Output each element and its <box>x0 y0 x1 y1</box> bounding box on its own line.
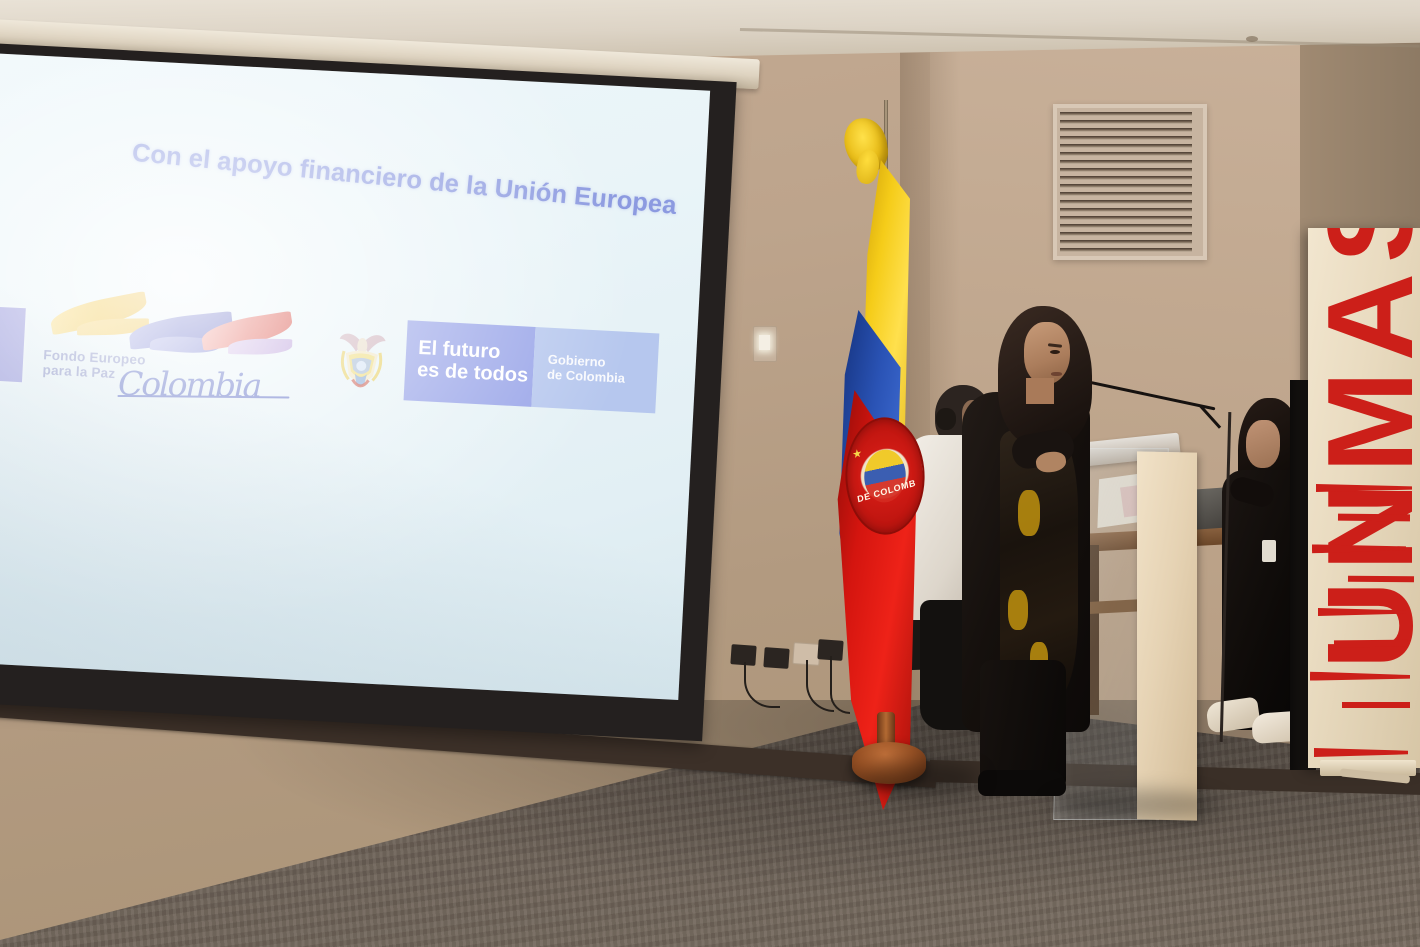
vent-louver <box>1060 192 1192 196</box>
vent-louver <box>1060 128 1192 132</box>
shawl-motif-1 <box>1018 490 1040 536</box>
banner-accent-stripe <box>1348 576 1414 583</box>
vent-louver <box>1060 184 1192 188</box>
podium-shadow <box>1050 790 1220 820</box>
vent-louver <box>1060 160 1192 164</box>
light-switch[interactable] <box>753 326 777 362</box>
flag-base-shadow <box>860 762 980 796</box>
fondo-europeo-logo: Fondo Europeo para la Paz Colombia <box>39 295 294 413</box>
bird-icon-violet <box>228 338 292 355</box>
eu-flag-icon <box>0 303 26 383</box>
vent-louver <box>1060 168 1192 172</box>
gobierno-name-text: Gobierno de Colombia <box>547 352 626 386</box>
speaker-face <box>1024 322 1070 384</box>
headphones-icon <box>936 408 956 430</box>
vent-louver <box>1060 120 1192 124</box>
vent-louver <box>1060 144 1192 148</box>
slide-logo-row: UROPEA Fondo Europeo para la Paz <box>0 277 698 456</box>
vent-louver <box>1060 240 1192 244</box>
vent-louver <box>1060 216 1192 220</box>
vent-louver <box>1060 224 1192 228</box>
vent-louver <box>1060 232 1192 236</box>
unmas-wordmark: UNMAS <box>1309 228 1420 669</box>
slide-title: Con el apoyo financiero de la Unión Euro… <box>131 139 651 219</box>
shawl-motif-2 <box>1008 590 1028 630</box>
flag-seal-star-icon <box>852 448 862 459</box>
speaker-shoes <box>978 770 1066 796</box>
banner-accent-stripe <box>1334 640 1408 648</box>
air-vent-icon <box>1053 104 1207 260</box>
vent-louver <box>1060 200 1192 204</box>
banner-accent-stripe <box>1314 748 1408 757</box>
lectern-front-panel <box>1137 451 1197 820</box>
speaker-eye <box>1050 350 1060 354</box>
gobierno-slogan-text: El futuro es de todos <box>417 337 530 387</box>
vent-louver <box>1060 176 1192 180</box>
colombia-script-wordmark: Colombia <box>118 364 261 405</box>
vent-louver <box>1060 152 1192 156</box>
colombia-coat-of-arms-icon <box>334 327 389 396</box>
unmas-rollup-banner: UNMAS www.unmas.o <box>1308 228 1420 768</box>
banner-accent-stripe <box>1342 702 1410 708</box>
screen-border: Con el apoyo financiero de la Unión Euro… <box>0 42 737 741</box>
gobierno-logo: El futuro es de todos Gobierno de Colomb… <box>333 315 658 428</box>
banner-accent-stripe <box>1338 514 1410 522</box>
projection-screen: Con el apoyo financiero de la Unión Euro… <box>0 36 759 756</box>
vent-louver <box>1060 208 1192 212</box>
banner-accent-stripe <box>1310 672 1410 682</box>
slide-surface: Con el apoyo financiero de la Unión Euro… <box>0 52 710 700</box>
vent-louver <box>1060 248 1192 252</box>
assistant-face <box>1246 420 1280 468</box>
speaker-neck <box>1026 378 1054 404</box>
vent-louver <box>1060 112 1192 116</box>
eu-logo: UROPEA <box>0 303 26 391</box>
name-badge <box>1262 540 1276 562</box>
speaker-mouth <box>1051 372 1062 376</box>
ceiling-fixture-icon <box>1246 36 1258 42</box>
conference-room-photo: Con el apoyo financiero de la Unión Euro… <box>0 0 1420 947</box>
vent-louver <box>1060 136 1192 140</box>
